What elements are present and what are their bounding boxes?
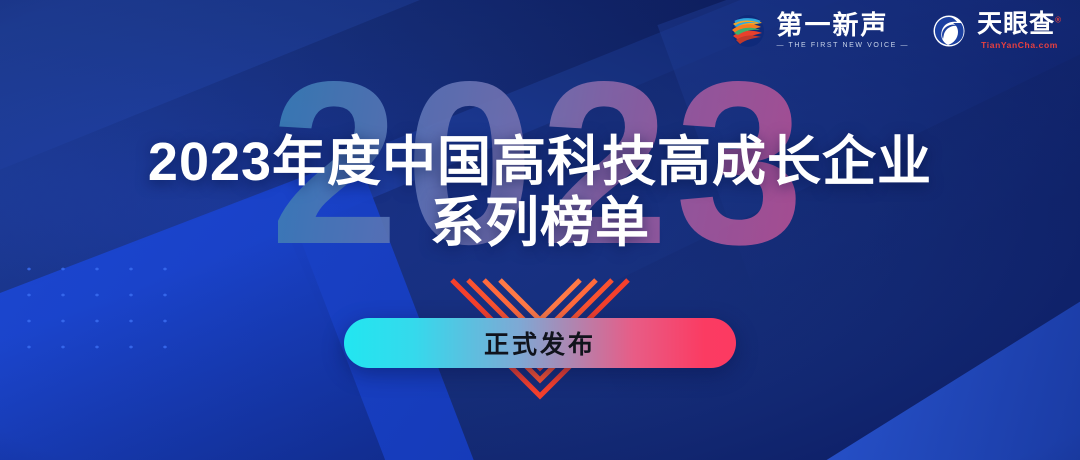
promo-banner: 2023 2023年度中国高科技高成长企业 xyxy=(0,0,1080,460)
vignette-overlay xyxy=(0,0,1080,460)
